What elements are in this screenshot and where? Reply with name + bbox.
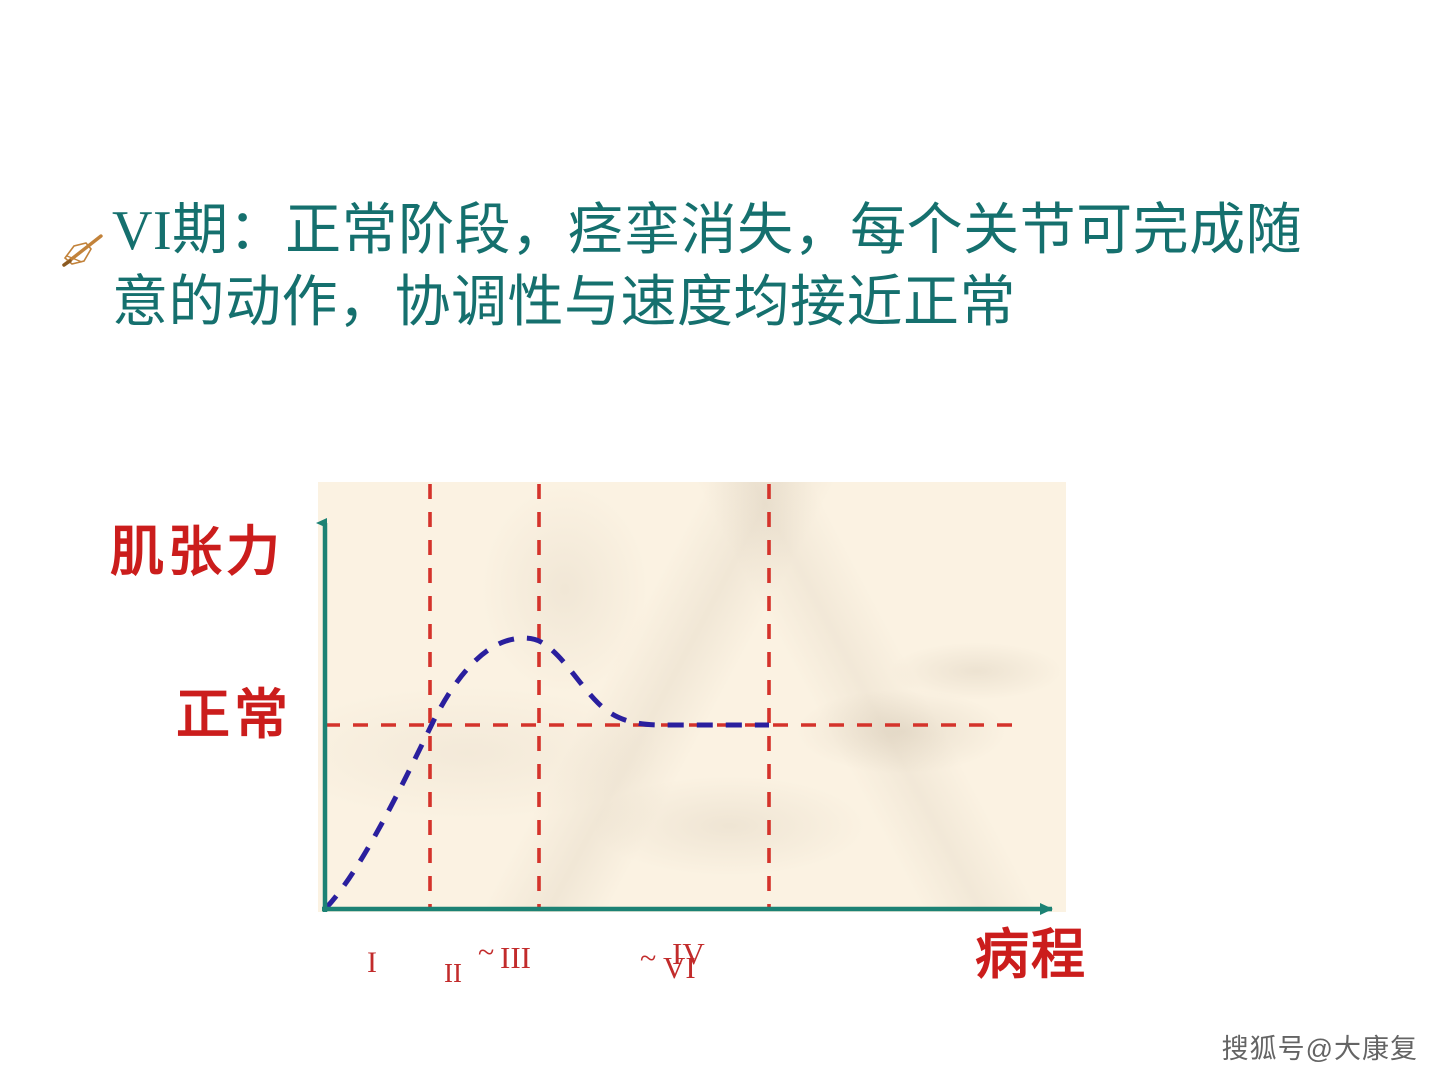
y-axis-reference-label: 正常 bbox=[176, 688, 292, 742]
x-tick-label-vi: VI bbox=[663, 952, 696, 983]
x-tick-label-tilde-1: ~ bbox=[478, 938, 494, 968]
x-tick-label-tilde-2: ~ bbox=[640, 944, 656, 974]
x-tick-label-ii: II bbox=[444, 960, 462, 987]
y-axis-title: 肌张力 bbox=[110, 525, 284, 579]
x-tick-label-iii: III bbox=[500, 942, 531, 973]
panel-texture-watermark bbox=[318, 482, 1066, 912]
site-watermark: 搜狐号@大康复 bbox=[1222, 1027, 1418, 1066]
chart-plot-panel bbox=[318, 482, 1066, 912]
muscle-tone-chart: 肌张力 正常 病程 I II ~ III ~ IV VI bbox=[0, 0, 1440, 1080]
x-tick-label-i: I bbox=[367, 948, 377, 978]
x-axis-title: 病程 bbox=[975, 928, 1087, 982]
